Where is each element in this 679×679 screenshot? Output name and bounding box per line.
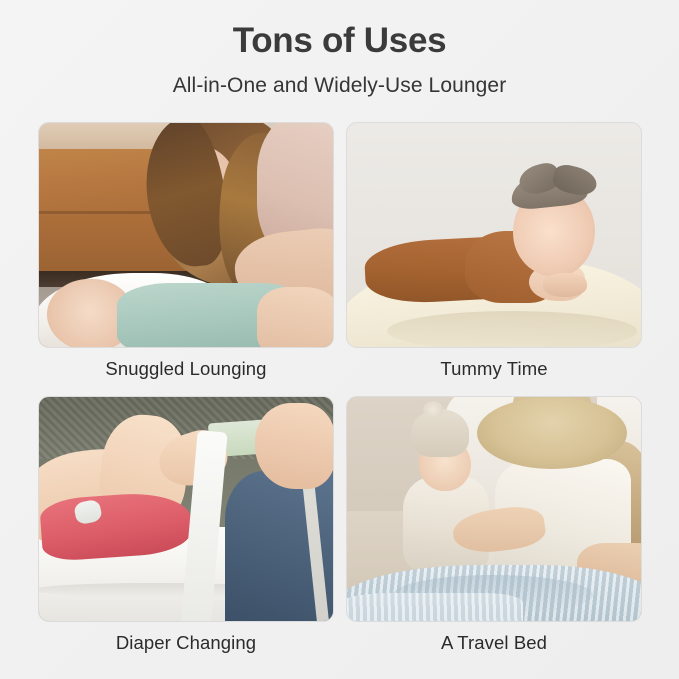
use-case-card-a-travel-bed[interactable]: A Travel Bed [346,396,642,654]
card-caption: Diaper Changing [38,631,334,654]
card-caption: A Travel Bed [346,631,642,654]
product-infographic: Tons of Uses All-in-One and Widely-Use L… [0,0,679,679]
photo-diaper-changing[interactable] [38,396,334,622]
page-subtitle: All-in-One and Widely-Use Lounger [0,73,679,98]
adult-hand [255,403,334,489]
straw-hat-brim [477,397,627,469]
use-case-card-diaper-changing[interactable]: Diaper Changing [38,396,334,654]
beanie-pom [423,401,443,418]
baby-beanie [411,409,469,457]
baby-hand [543,273,587,297]
card-caption: Tummy Time [346,357,642,380]
card-caption: Snuggled Lounging [38,357,334,380]
lounger-shadow [387,311,637,348]
baby-legs [257,287,334,348]
use-case-card-snuggled-lounging[interactable]: Snuggled Lounging [38,122,334,380]
use-case-card-tummy-time[interactable]: Tummy Time [346,122,642,380]
photo-tummy-time[interactable] [346,122,642,348]
muslin-blanket [346,593,523,622]
photo-a-travel-bed[interactable] [346,396,642,622]
use-case-grid: Snuggled Lounging Tummy Time [38,122,642,654]
header: Tons of Uses All-in-One and Widely-Use L… [0,0,679,98]
photo-snuggled-lounging[interactable] [38,122,334,348]
page-title: Tons of Uses [0,22,679,61]
